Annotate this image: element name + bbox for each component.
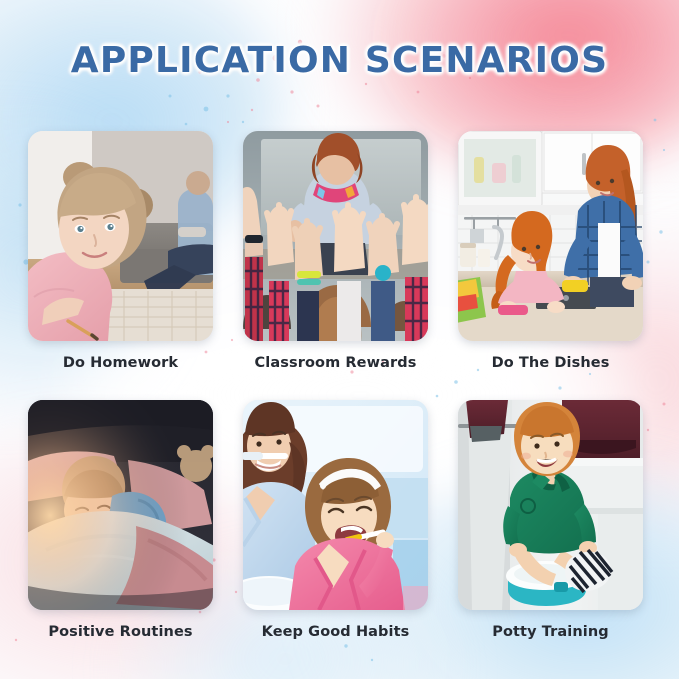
scenario-label-do-homework: Do Homework (28, 355, 213, 371)
photo-do-homework (28, 131, 213, 341)
scenario-card-do-the-dishes[interactable]: Do The Dishes (458, 131, 643, 371)
scenario-label-keep-good-habits: Keep Good Habits (243, 624, 428, 640)
scenario-grid: Do Homework (28, 131, 651, 640)
scenario-row-1: Do Homework (28, 131, 651, 371)
scenario-card-positive-routines[interactable]: Positive Routines (28, 400, 213, 640)
scenario-image-potty-training[interactable] (458, 400, 643, 610)
page-title-container: APPLICATION SCENARIOS (0, 40, 679, 81)
scenario-card-classroom-rewards[interactable]: Classroom Rewards (243, 131, 428, 371)
photo-keep-good-habits (243, 400, 428, 610)
page-title: APPLICATION SCENARIOS (71, 40, 608, 81)
application-scenarios-page: APPLICATION SCENARIOS (0, 0, 679, 679)
scenario-card-do-homework[interactable]: Do Homework (28, 131, 213, 371)
scenario-label-classroom-rewards: Classroom Rewards (243, 355, 428, 371)
scenario-card-keep-good-habits[interactable]: Keep Good Habits (243, 400, 428, 640)
scenario-label-positive-routines: Positive Routines (28, 624, 213, 640)
scenario-image-positive-routines[interactable] (28, 400, 213, 610)
scenario-image-keep-good-habits[interactable] (243, 400, 428, 610)
scenario-label-do-the-dishes: Do The Dishes (458, 355, 643, 371)
scenario-label-potty-training: Potty Training (458, 624, 643, 640)
photo-classroom-rewards (243, 131, 428, 341)
scenario-image-classroom-rewards[interactable] (243, 131, 428, 341)
scenario-image-do-homework[interactable] (28, 131, 213, 341)
scenario-card-potty-training[interactable]: Potty Training (458, 400, 643, 640)
scenario-image-do-the-dishes[interactable] (458, 131, 643, 341)
photo-positive-routines (28, 400, 213, 610)
photo-potty-training (458, 400, 643, 610)
photo-do-the-dishes (458, 131, 643, 341)
scenario-row-2: Positive Routines (28, 400, 651, 640)
